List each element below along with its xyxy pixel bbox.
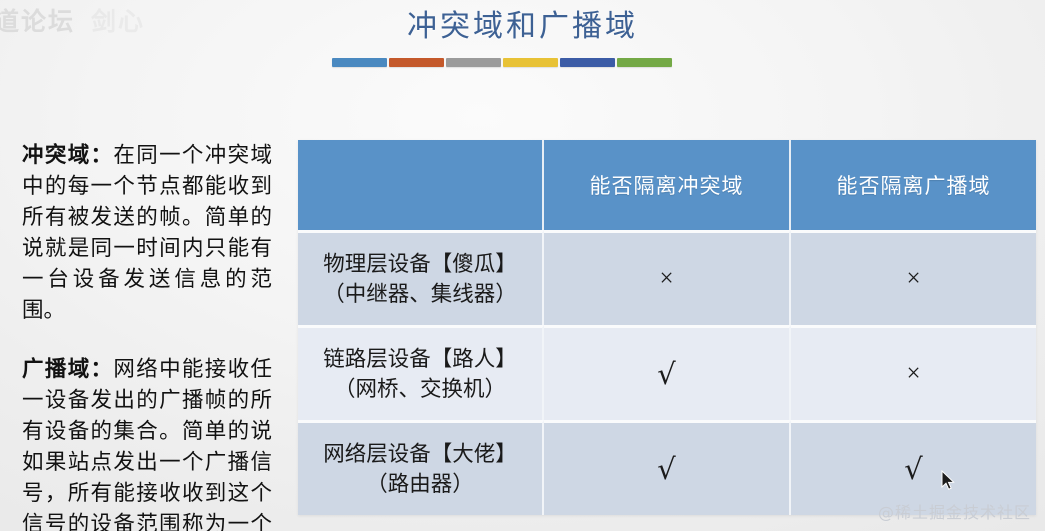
watermark-bottom-right: @稀土掘金技术社区 xyxy=(878,499,1031,523)
device-name-line1: 网络层设备【大佬】 xyxy=(299,439,541,469)
definition-broadcast-domain-body: 网络中能接收任一设备发出的广播帧的所有设备的集合。简单的说如果站点发出一个广播信… xyxy=(22,357,272,531)
table-header: 能否隔离冲突域 能否隔离广播域 xyxy=(298,140,1036,230)
definition-broadcast-domain: 广播域：网络中能接收任一设备发出的广播帧的所有设备的集合。简单的说如果站点发出一… xyxy=(22,354,272,531)
definitions-column: 冲突域：在同一个冲突域中的每一个节点都能收到所有被发送的帧。简单的说就是同一时间… xyxy=(22,140,272,531)
table-cell-device-network: 网络层设备【大佬】 （路由器） xyxy=(298,420,544,515)
definition-collision-domain: 冲突域：在同一个冲突域中的每一个节点都能收到所有被发送的帧。简单的说就是同一时间… xyxy=(22,140,272,326)
comparison-table: 能否隔离冲突域 能否隔离广播域 物理层设备【傻瓜】 （中继器、集线器） × × … xyxy=(298,140,1036,515)
table-row: 链路层设备【路人】 （网桥、交换机） √ × xyxy=(298,325,1036,420)
slide-canvas: 道论坛剑心 冲突域和广播域 冲突域：在同一个冲突域中的每一个节点都能收到所有被发… xyxy=(0,0,1045,531)
definition-collision-domain-label: 冲突域： xyxy=(22,143,113,167)
table-cell-datalink-isolate-broadcast: × xyxy=(791,325,1036,420)
accent-bar-darkblue xyxy=(560,58,615,67)
table-row: 物理层设备【傻瓜】 （中继器、集线器） × × xyxy=(298,230,1036,325)
table-header-isolate-collision: 能否隔离冲突域 xyxy=(544,140,791,230)
table-header-device xyxy=(298,140,544,230)
device-name-line2: （中继器、集线器） xyxy=(299,279,541,309)
accent-bar-gray xyxy=(446,58,501,67)
title-block: 冲突域和广播域 xyxy=(0,8,1045,46)
table-cell-network-isolate-collision: √ xyxy=(544,420,791,515)
accent-bar-green xyxy=(617,58,672,67)
accent-bar-orange xyxy=(389,58,444,67)
table-header-isolate-broadcast: 能否隔离广播域 xyxy=(791,140,1036,230)
page-title: 冲突域和广播域 xyxy=(0,8,1045,46)
table-body: 物理层设备【傻瓜】 （中继器、集线器） × × 链路层设备【路人】 （网桥、交换… xyxy=(298,230,1036,515)
comparison-table-wrapper: 能否隔离冲突域 能否隔离广播域 物理层设备【傻瓜】 （中继器、集线器） × × … xyxy=(298,140,1036,515)
device-name-line2: （网桥、交换机） xyxy=(299,374,541,404)
table-header-row: 能否隔离冲突域 能否隔离广播域 xyxy=(298,140,1036,230)
accent-bar-yellow xyxy=(503,58,558,67)
device-name-line1: 物理层设备【傻瓜】 xyxy=(299,249,541,279)
table-cell-physical-isolate-collision: × xyxy=(544,230,791,325)
device-name-line1: 链路层设备【路人】 xyxy=(299,344,541,374)
table-cell-device-physical: 物理层设备【傻瓜】 （中继器、集线器） xyxy=(298,230,544,325)
definition-broadcast-domain-label: 广播域： xyxy=(22,357,113,381)
definition-collision-domain-body: 在同一个冲突域中的每一个节点都能收到所有被发送的帧。简单的说就是同一时间内只能有… xyxy=(22,143,272,322)
table-cell-datalink-isolate-collision: √ xyxy=(544,325,791,420)
table-cell-device-datalink: 链路层设备【路人】 （网桥、交换机） xyxy=(298,325,544,420)
table-cell-physical-isolate-broadcast: × xyxy=(791,230,1036,325)
accent-bar-group xyxy=(332,58,672,67)
accent-bar-blue xyxy=(332,58,387,67)
device-name-line2: （路由器） xyxy=(299,469,541,499)
